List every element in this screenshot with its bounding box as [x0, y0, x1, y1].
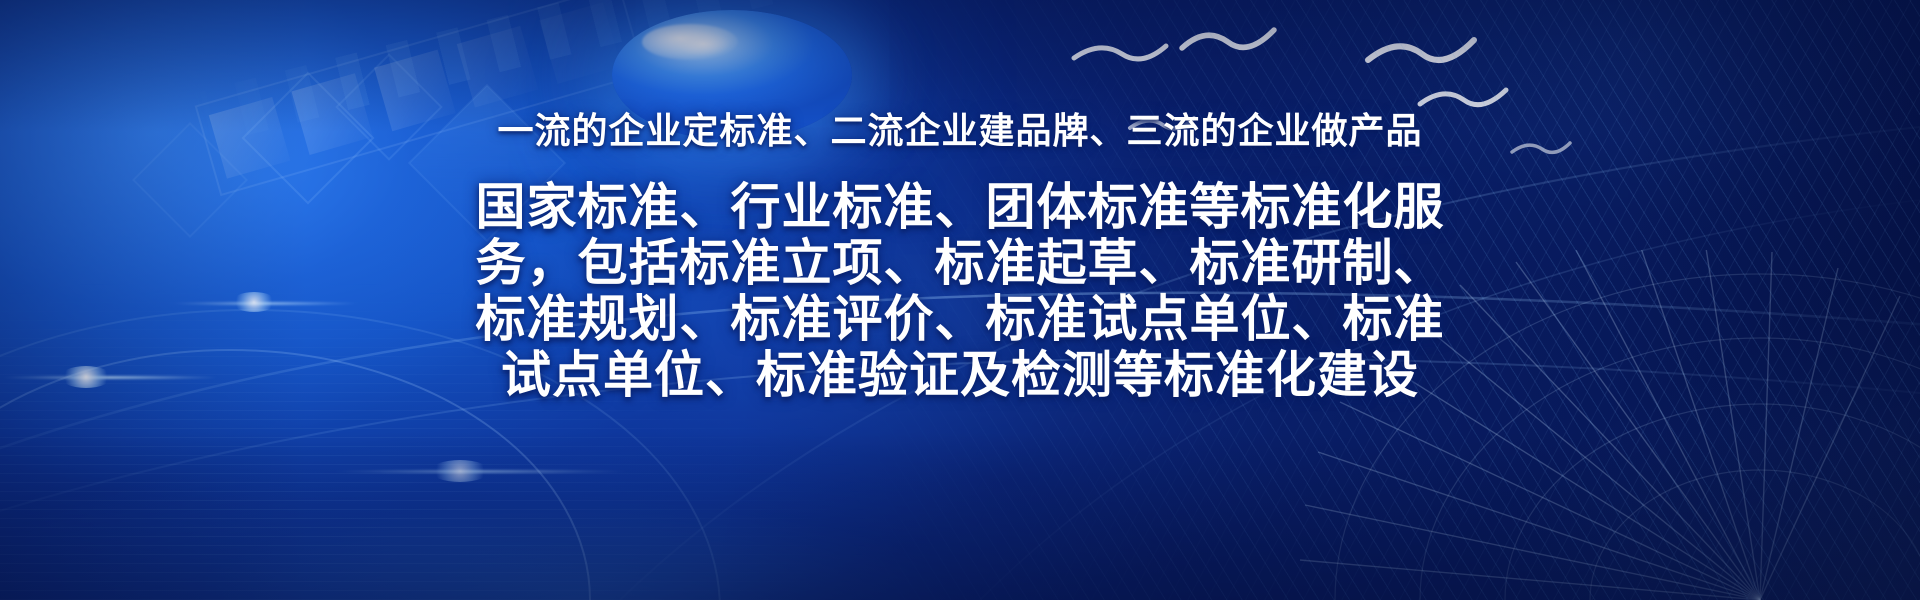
vignette-overlay: [0, 0, 1920, 600]
promo-banner: 一流的企业定标准、二流企业建品牌、三流的企业做产品 国家标准、行业标准、团体标准…: [0, 0, 1920, 600]
